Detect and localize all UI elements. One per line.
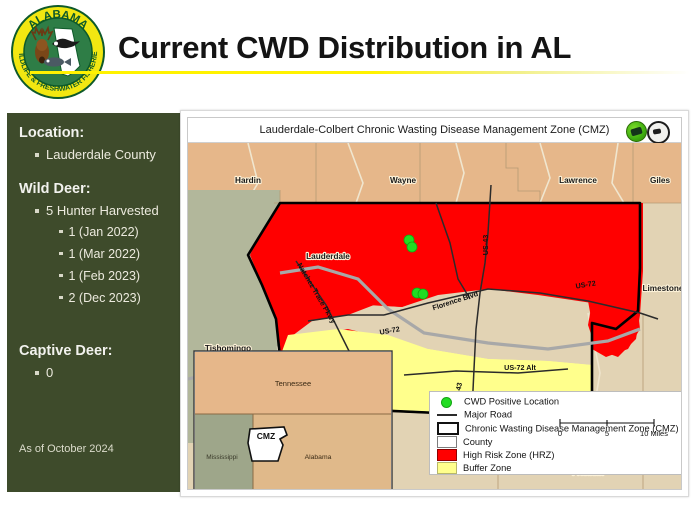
scale-tick-10: 10 Miles <box>640 429 668 438</box>
wild-deer-total: 5 Hunter Harvested <box>46 203 159 218</box>
slide-root: ALABAMA WILDLIFE & FRESHWATER FISHERIES <box>0 0 696 522</box>
bullet-icon <box>35 371 39 375</box>
road-label-us72-alt: US-72 Alt <box>504 363 536 372</box>
header-divider-rule <box>30 71 690 74</box>
map-frame: Lauderdale-Colbert Chronic Wasting Disea… <box>187 117 682 490</box>
wild-deer-detail-item: 1 (Jan 2022) <box>59 225 139 239</box>
wild-deer-total-item: 5 Hunter Harvested <box>35 203 159 218</box>
bullet-icon <box>35 153 39 157</box>
road-line-icon <box>436 410 458 420</box>
map-card: Lauderdale-Colbert Chronic Wasting Disea… <box>180 110 689 497</box>
bullet-icon <box>59 296 63 300</box>
legend-item-buffer-zone: Buffer Zone <box>436 462 682 475</box>
cwd-dot-icon <box>436 397 458 407</box>
bullet-icon <box>59 274 63 278</box>
as-of-date: As of October 2024 <box>19 443 114 455</box>
road-label-us43-north: US-43 <box>481 235 490 255</box>
map-scale-bar: 0 5 10 Miles <box>554 414 672 446</box>
location-item: Lauderdale County <box>35 147 156 162</box>
captive-deer-value: 0 <box>46 365 53 380</box>
county-swatch-icon <box>437 436 457 448</box>
inset-cmz-label: CMZ <box>257 431 275 441</box>
county-label-giles: Giles <box>650 176 670 185</box>
wild-deer-heading: Wild Deer: <box>19 181 91 197</box>
high-risk-swatch-icon <box>437 449 457 461</box>
bullet-icon <box>59 230 63 234</box>
bullet-icon <box>59 252 63 256</box>
legend-item-high-risk-zone: High Risk Zone (HRZ) <box>436 449 682 462</box>
page-title: Current CWD Distribution in AL <box>118 26 638 70</box>
cwd-dot <box>418 289 428 299</box>
info-panel: Location: Lauderdale County Wild Deer: 5… <box>7 113 180 492</box>
county-label-wayne: Wayne <box>390 176 417 185</box>
wild-deer-detail-item: 1 (Mar 2022) <box>59 247 140 261</box>
bullet-icon <box>35 209 39 213</box>
scale-tick-5: 5 <box>605 429 609 438</box>
inset-locator-map: CMZ Tennessee Mississippi Alabama <box>194 351 392 490</box>
inset-mississippi-fill <box>195 414 253 490</box>
scale-tick-0: 0 <box>558 429 562 438</box>
inset-label-alabama: Alabama <box>305 454 332 461</box>
county-label-lauderdale: Lauderdale <box>306 252 350 261</box>
inset-label-tennessee: Tennessee <box>275 379 311 388</box>
inset-label-mississippi: Mississippi <box>206 454 237 461</box>
location-heading: Location: <box>19 125 84 141</box>
map-title-bar: Lauderdale-Colbert Chronic Wasting Disea… <box>188 118 681 143</box>
wild-deer-detail-item: 2 (Dec 2023) <box>59 291 141 305</box>
cwd-program-logo-icon <box>626 121 647 142</box>
agency-seal-small-icon <box>647 121 670 144</box>
location-value: Lauderdale County <box>46 147 156 162</box>
alabama-wff-seal-logo: ALABAMA WILDLIFE & FRESHWATER FISHERIES <box>10 4 106 100</box>
legend-item-cwd-positive: CWD Positive Location <box>436 396 682 409</box>
county-label-lawrence: Lawrence <box>559 176 597 185</box>
county-label-hardin: Hardin <box>235 176 261 185</box>
cmz-swatch-icon <box>437 422 459 435</box>
captive-deer-item: 0 <box>35 365 53 380</box>
cwd-dot <box>407 242 417 252</box>
county-label-limestone: Limestone <box>643 284 682 293</box>
wild-deer-detail-item: 1 (Feb 2023) <box>59 269 140 283</box>
captive-deer-heading: Captive Deer: <box>19 343 112 359</box>
buffer-swatch-icon <box>437 462 457 474</box>
map-title: Lauderdale-Colbert Chronic Wasting Disea… <box>188 118 681 143</box>
